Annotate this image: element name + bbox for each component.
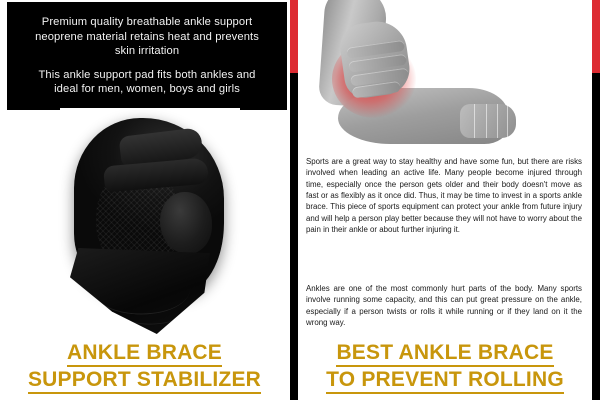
promo-line-2: neoprene material retains heat and preve… <box>13 30 281 45</box>
right-headline-line-2: TO PREVENT ROLLING <box>326 367 564 394</box>
panel-divider <box>290 0 298 400</box>
right-edge-bar <box>592 0 600 400</box>
toes-shape <box>460 104 516 138</box>
promo-line-1: Premium quality breathable ankle support <box>13 15 281 30</box>
promo-line-3: skin irritation <box>13 44 281 59</box>
right-edge-black-segment <box>592 73 600 400</box>
toe-divider-4 <box>507 104 508 138</box>
divider-red-segment <box>290 0 298 73</box>
left-panel: Premium quality breathable ankle support… <box>0 0 289 400</box>
left-headline-line-2: SUPPORT STABILIZER <box>28 367 261 394</box>
brace-ankle-pad <box>160 192 212 254</box>
slide-canvas: Premium quality breathable ankle support… <box>0 0 600 400</box>
ankle-pain-image <box>298 0 592 150</box>
left-headline-line-1: ANKLE BRACE <box>67 340 222 367</box>
divider-black-segment <box>290 73 298 400</box>
right-headline: BEST ANKLE BRACE TO PREVENT ROLLING <box>298 340 592 394</box>
ankle-brace-product-image <box>60 108 240 336</box>
right-headline-line-1: BEST ANKLE BRACE <box>336 340 553 367</box>
body-paragraph-1: Sports are a great way to stay healthy a… <box>306 156 582 235</box>
right-edge-red-segment <box>592 0 600 73</box>
promo-line-4: This ankle support pad fits both ankles … <box>13 68 281 83</box>
left-headline: ANKLE BRACE SUPPORT STABILIZER <box>0 340 289 394</box>
toe-divider-2 <box>486 104 487 138</box>
toe-divider-3 <box>497 104 498 138</box>
toe-divider-1 <box>474 104 475 138</box>
body-paragraph-2: Ankles are one of the most commonly hurt… <box>306 283 582 328</box>
brace-mid-strap <box>103 158 209 193</box>
promo-line-5: ideal for men, women, boys and girls <box>13 82 281 97</box>
promo-text-box: Premium quality breathable ankle support… <box>7 2 287 110</box>
right-panel: Sports are a great way to stay healthy a… <box>298 0 592 400</box>
